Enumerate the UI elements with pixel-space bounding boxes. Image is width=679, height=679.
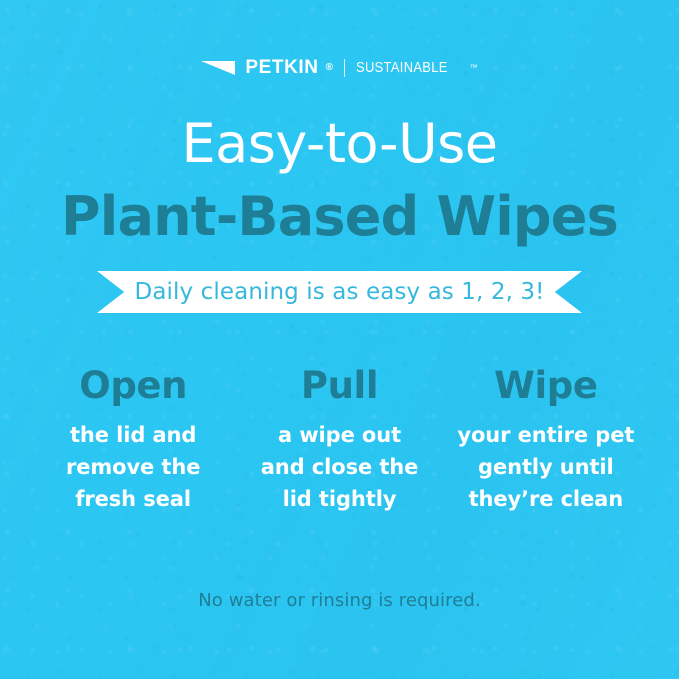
step-open: Open the lid and remove the fresh seal	[30, 366, 236, 516]
step-description-line: gently until	[443, 452, 649, 484]
brand-lockup: PETKIN® SUSTAINABLE™	[0, 58, 679, 77]
step-description-line: and close the	[236, 452, 442, 484]
step-description: the lid and remove the fresh seal	[30, 420, 236, 516]
step-description: your entire pet gently until they’re cle…	[443, 420, 649, 516]
poster-content: PETKIN® SUSTAINABLE™ Easy-to-Use Plant-B…	[0, 0, 679, 679]
step-description-line: your entire pet	[443, 420, 649, 452]
product-infographic-poster: PETKIN® SUSTAINABLE™ Easy-to-Use Plant-B…	[0, 0, 679, 679]
brand-divider	[344, 59, 345, 77]
brand-name: PETKIN	[245, 58, 318, 77]
step-description-line: the lid and	[30, 420, 236, 452]
step-title: Pull	[236, 366, 442, 406]
headline-line-1: Easy-to-Use	[0, 116, 679, 173]
headline-line-2: Plant-Based Wipes	[0, 189, 679, 246]
step-description-line: lid tightly	[236, 484, 442, 516]
step-description-line: remove the	[30, 452, 236, 484]
steps-row: Open the lid and remove the fresh seal P…	[30, 366, 649, 516]
step-title: Wipe	[443, 366, 649, 406]
step-description: a wipe out and close the lid tightly	[236, 420, 442, 516]
step-description-line: a wipe out	[236, 420, 442, 452]
step-title: Open	[30, 366, 236, 406]
step-description-line: fresh seal	[30, 484, 236, 516]
subbrand-name: SUSTAINABLE	[356, 60, 448, 75]
wedge-swoosh-icon	[201, 60, 237, 76]
step-wipe: Wipe your entire pet gently until they’r…	[443, 366, 649, 516]
trademark-mark: ™	[470, 64, 478, 72]
step-pull: Pull a wipe out and close the lid tightl…	[236, 366, 442, 516]
registered-mark: ®	[326, 63, 333, 73]
footer-note: No water or rinsing is required.	[0, 590, 679, 612]
tagline-ribbon-banner: Daily cleaning is as easy as 1, 2, 3!	[97, 271, 582, 313]
step-description-line: they’re clean	[443, 484, 649, 516]
tagline-text: Daily cleaning is as easy as 1, 2, 3!	[135, 281, 545, 304]
